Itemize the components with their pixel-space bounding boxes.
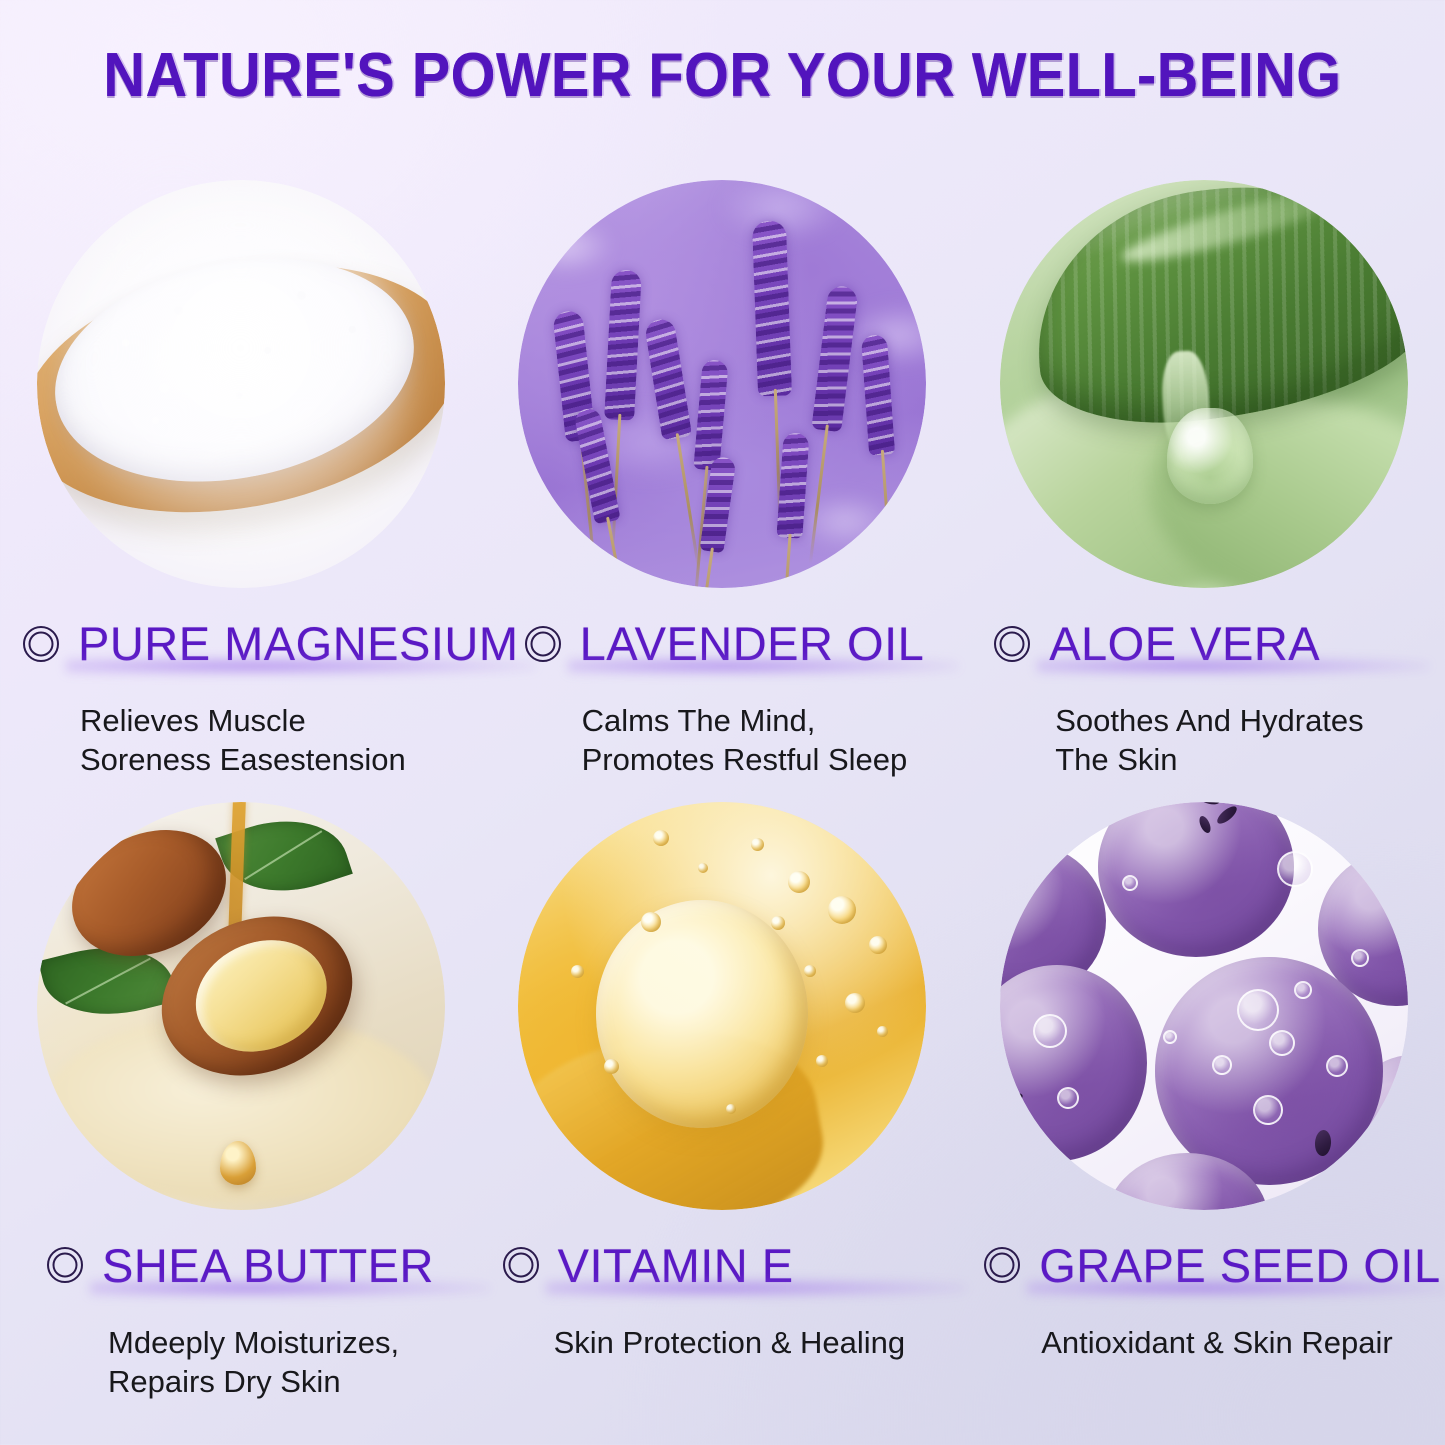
ingredient-row-bottom: SHEA BUTTER Mdeeply Moisturizes, Repairs… bbox=[0, 794, 1445, 1402]
ingredient-name: SHEA BUTTER bbox=[102, 1238, 434, 1293]
ingredient-description: Soothes And Hydrates The Skin bbox=[993, 701, 1445, 780]
double-circle-icon bbox=[983, 1246, 1021, 1284]
grape-seed bbox=[1215, 803, 1240, 826]
ingredient-label-block: ALOE VERA Soothes And Hydrates The Skin bbox=[963, 588, 1445, 780]
page-title: NATURE'S POWER FOR YOUR WELL-BEING bbox=[51, 40, 1395, 111]
ingredient-name: PURE MAGNESIUM bbox=[78, 616, 519, 671]
ingredient-name: ALOE VERA bbox=[1049, 616, 1320, 671]
ingredient-heading-row: LAVENDER OIL bbox=[524, 616, 964, 671]
magnesium-salt-photo bbox=[37, 180, 445, 588]
oil-bubble bbox=[788, 871, 810, 893]
ingredient-card-lavender-oil: LAVENDER OIL Calms The Mind, Promotes Re… bbox=[482, 180, 964, 780]
ingredient-photo-wrap bbox=[37, 802, 445, 1210]
oil-bubble bbox=[1212, 1055, 1232, 1075]
aloe-vera-photo bbox=[1000, 180, 1408, 588]
oil-bubble bbox=[828, 896, 856, 924]
ingredient-description: Relieves Muscle Soreness Easestension bbox=[22, 701, 482, 780]
oil-bubble bbox=[804, 965, 816, 977]
ingredient-card-grape-seed-oil: GRAPE SEED OIL Antioxidant & Skin Repair bbox=[963, 794, 1445, 1402]
ingredient-card-aloe-vera: ALOE VERA Soothes And Hydrates The Skin bbox=[963, 180, 1445, 780]
aloe-gel-droplet bbox=[1167, 408, 1253, 504]
ingredient-description: Skin Protection & Healing bbox=[502, 1323, 964, 1362]
oil-bubble bbox=[1277, 851, 1313, 887]
ingredient-label-block: SHEA BUTTER Mdeeply Moisturizes, Repairs… bbox=[0, 1210, 482, 1402]
ingredient-description: Antioxidant & Skin Repair bbox=[983, 1323, 1445, 1362]
shea-butter-photo bbox=[37, 802, 445, 1210]
ingredient-description: Mdeeply Moisturizes, Repairs Dry Skin bbox=[46, 1323, 482, 1402]
grape-seed-oil-photo bbox=[1000, 802, 1408, 1210]
oil-bubble bbox=[641, 912, 661, 932]
ingredient-heading-row: ALOE VERA bbox=[993, 616, 1445, 671]
ingredient-photo-wrap bbox=[1000, 180, 1408, 588]
grape-seed bbox=[1314, 1130, 1332, 1157]
ingredient-label-block: GRAPE SEED OIL Antioxidant & Skin Repair bbox=[963, 1210, 1445, 1362]
ingredient-card-vitamin-e: VITAMIN E Skin Protection & Healing bbox=[482, 794, 964, 1402]
grape-sphere bbox=[1155, 957, 1383, 1185]
grape-seed bbox=[1002, 1091, 1024, 1106]
ingredient-card-pure-magnesium: PURE MAGNESIUM Relieves Muscle Soreness … bbox=[0, 180, 482, 780]
ingredient-row-top: PURE MAGNESIUM Relieves Muscle Soreness … bbox=[0, 180, 1445, 780]
ingredient-description: Calms The Mind, Promotes Restful Sleep bbox=[524, 701, 964, 780]
ingredient-label-block: LAVENDER OIL Calms The Mind, Promotes Re… bbox=[482, 588, 964, 780]
ingredient-card-shea-butter: SHEA BUTTER Mdeeply Moisturizes, Repairs… bbox=[0, 794, 482, 1402]
ingredient-heading-row: VITAMIN E bbox=[502, 1238, 964, 1293]
double-circle-icon bbox=[993, 625, 1031, 663]
ingredient-heading-row: PURE MAGNESIUM bbox=[22, 616, 482, 671]
oil-bubble bbox=[1351, 949, 1369, 967]
ingredient-label-block: PURE MAGNESIUM Relieves Muscle Soreness … bbox=[0, 588, 482, 780]
oil-bubble bbox=[816, 1055, 828, 1067]
ingredient-heading-row: SHEA BUTTER bbox=[46, 1238, 482, 1293]
ingredient-heading-row: GRAPE SEED OIL bbox=[983, 1238, 1445, 1293]
double-circle-icon bbox=[22, 625, 60, 663]
large-oil-droplet-shape bbox=[596, 900, 808, 1128]
double-circle-icon bbox=[502, 1246, 540, 1284]
oil-bubble bbox=[1033, 1014, 1067, 1048]
ingredient-photo-wrap bbox=[518, 802, 926, 1210]
vitamin-e-oil-photo bbox=[518, 802, 926, 1210]
ingredient-label-block: VITAMIN E Skin Protection & Healing bbox=[482, 1210, 964, 1362]
oil-bubble bbox=[1237, 989, 1279, 1031]
oil-bubble bbox=[698, 863, 708, 873]
oil-bubble bbox=[1294, 981, 1312, 999]
ingredient-photo-wrap bbox=[37, 180, 445, 588]
header: NATURE'S POWER FOR YOUR WELL-BEING bbox=[0, 40, 1445, 111]
ingredient-photo-wrap bbox=[1000, 802, 1408, 1210]
double-circle-icon bbox=[524, 625, 562, 663]
lavender-spike bbox=[752, 220, 792, 396]
oil-bubble bbox=[1326, 1055, 1348, 1077]
oil-bubble bbox=[604, 1059, 619, 1074]
ingredient-name: GRAPE SEED OIL bbox=[1039, 1238, 1440, 1293]
infographic-page: NATURE'S POWER FOR YOUR WELL-BEING bbox=[0, 0, 1445, 1445]
ingredient-grid: PURE MAGNESIUM Relieves Muscle Soreness … bbox=[0, 180, 1445, 1401]
salt-background-blur bbox=[69, 204, 412, 563]
ingredient-photo-wrap bbox=[518, 180, 926, 588]
grape-seed bbox=[1197, 815, 1213, 835]
ingredient-name: LAVENDER OIL bbox=[580, 616, 925, 671]
double-circle-icon bbox=[46, 1246, 84, 1284]
grape-seed bbox=[1199, 802, 1220, 806]
ingredient-name: VITAMIN E bbox=[558, 1238, 794, 1293]
lavender-field-photo bbox=[518, 180, 926, 588]
